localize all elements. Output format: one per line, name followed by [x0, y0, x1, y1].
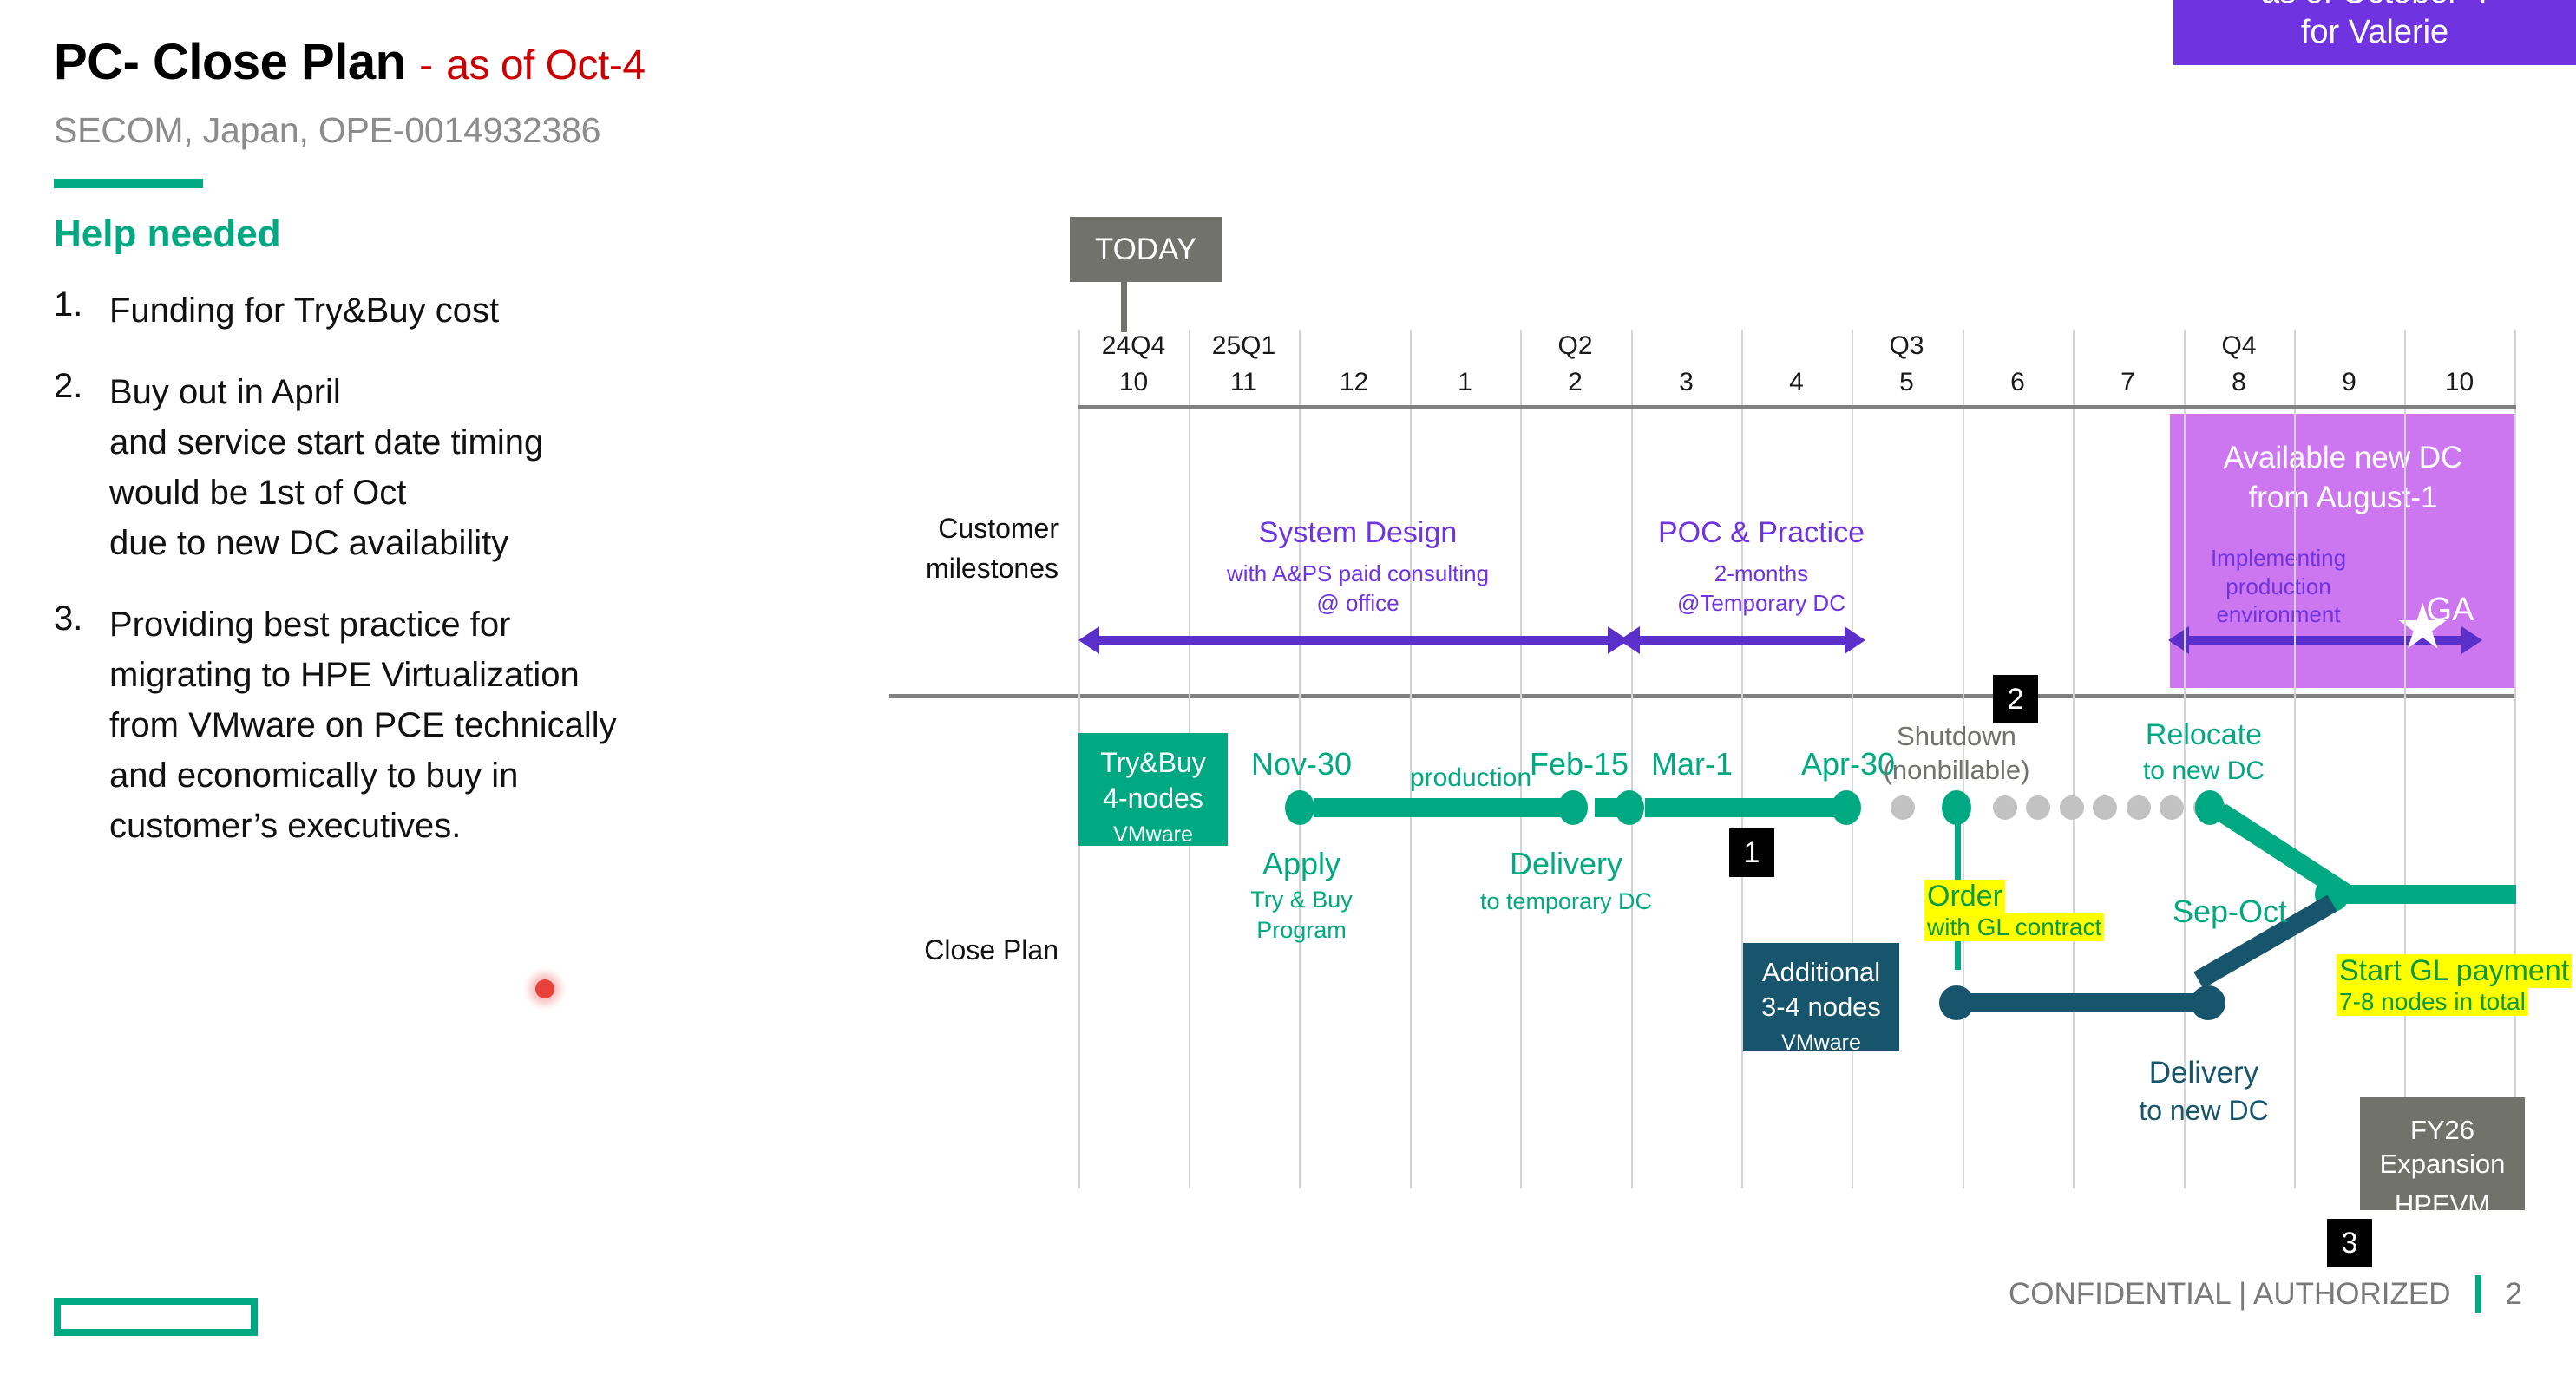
additional-line2: 3-4 nodes — [1743, 990, 1899, 1025]
month-label: 9 — [2294, 368, 2404, 397]
hpe-logo — [54, 1298, 258, 1336]
phase-title: System Design — [1171, 516, 1544, 550]
month-label: 12 — [1299, 368, 1409, 397]
trybuy-line3: VMware — [1078, 822, 1228, 848]
trybuy-line1: Try&Buy — [1078, 745, 1228, 781]
phase-system-design: System Design with A&PS paid consulting … — [1171, 516, 1544, 619]
row-label-customer-milestones: Customer milestones — [894, 508, 1059, 589]
valerie-note-line2: for Valerie — [2173, 12, 2576, 52]
footer: CONFIDENTIAL | AUTHORIZED 2 — [2009, 1275, 2522, 1313]
page-title: PC- Close Plan - as of Oct-4 — [54, 33, 921, 91]
grid-line — [2514, 330, 2516, 1188]
page-subtitle: SECOM, Japan, OPE-0014932386 — [54, 110, 921, 151]
additional-nodes-box: Additional 3-4 nodes VMware — [1743, 943, 1899, 1051]
poc-practice-arrow — [1638, 636, 1846, 645]
grid-line — [2404, 330, 2406, 1188]
fy26-expansion-box: FY26 Expansion HPEVM — [2360, 1097, 2525, 1210]
trybuy-box: Try&Buy 4-nodes VMware — [1078, 733, 1228, 846]
bullet-line: and economically to buy in — [109, 750, 617, 801]
row-label-line: Customer — [894, 508, 1059, 548]
list-item: 1. Funding for Try&Buy cost — [54, 285, 921, 336]
label-shutdown: Shutdown (nonbillable) — [1831, 720, 2082, 788]
label-shutdown-line: (nonbillable) — [1831, 754, 2082, 788]
additional-line3: VMware — [1743, 1031, 1899, 1056]
label-sep-oct: Sep-Oct — [2143, 894, 2317, 930]
month-label: 6 — [1963, 368, 2073, 397]
today-marker-stem — [1121, 282, 1127, 332]
fy26-line2: Expansion — [2360, 1147, 2525, 1181]
bullet-line: from VMware on PCE technically — [109, 700, 617, 750]
dark-bar-additional — [1959, 993, 2207, 1012]
dotted-segment-dot — [2127, 795, 2151, 820]
bullet-line: and service start date timing — [109, 417, 543, 468]
milestone-dot-nov30[interactable] — [1285, 790, 1314, 825]
page-number: 2 — [2506, 1277, 2522, 1312]
month-label: 11 — [1189, 368, 1299, 397]
row-label-close-plan: Close Plan — [894, 934, 1059, 966]
page-title-main: PC- Close Plan — [54, 34, 406, 90]
month-label: 10 — [1078, 368, 1189, 397]
label-relocate-line: Relocate — [2100, 716, 2308, 754]
mouse-cursor-pointer — [535, 979, 554, 998]
milestone-dot-order[interactable] — [1939, 985, 1974, 1020]
dotted-segment-dot — [1993, 795, 2017, 820]
bullet-text: Buy out in April and service start date … — [109, 367, 543, 568]
start-gl-line2: 7-8 nodes in total — [2337, 988, 2528, 1016]
dotted-segment-dot — [2026, 795, 2050, 820]
list-item: 2. Buy out in April and service start da… — [54, 367, 921, 568]
quarter-label: Q3 — [1852, 331, 1962, 361]
bullet-line: Providing best practice for — [109, 599, 617, 650]
milestone-dot-feb15[interactable] — [1558, 790, 1588, 825]
badge-2: 2 — [1993, 675, 2038, 723]
month-label: 4 — [1741, 368, 1852, 397]
phase-title: POC & Practice — [1609, 516, 1913, 550]
bullet-list: 1. Funding for Try&Buy cost 2. Buy out i… — [54, 285, 921, 851]
phase-sub-line: 2-months — [1609, 559, 1913, 588]
label-delivery-temp-sub: to temporary DC — [1440, 887, 1692, 917]
label-apply-sub-line: Try & Buy — [1215, 885, 1388, 915]
label-delivery-new-dc: Delivery to new DC — [2100, 1054, 2308, 1129]
valerie-note: as of October-4 for Valerie — [2173, 0, 2576, 65]
today-marker-flag: TODAY — [1070, 217, 1222, 282]
dotted-segment-dot — [2060, 795, 2084, 820]
accent-rule — [54, 179, 203, 188]
grid-baseline — [1078, 405, 2516, 409]
label-apply-sub: Try & Buy Program — [1215, 885, 1388, 946]
phase-poc-practice: POC & Practice 2-months @Temporary DC — [1609, 516, 1913, 619]
list-item: 3. Providing best practice for migrating… — [54, 599, 921, 851]
trybuy-line2: 4-nodes — [1078, 781, 1228, 816]
quarter-label: 24Q4 — [1078, 331, 1189, 361]
grid-line — [1410, 330, 1412, 1188]
order-line1: Order — [1924, 880, 2005, 913]
bullet-number: 1. — [54, 285, 109, 336]
label-nov30: Nov-30 — [1223, 746, 1380, 782]
month-label: 10 — [2404, 368, 2514, 397]
label-delivery-temp: Delivery — [1466, 846, 1666, 882]
label-relocate-line: to new DC — [2100, 754, 2308, 788]
page-title-asof: as of Oct-4 — [446, 43, 645, 88]
bullet-line: customer’s executives. — [109, 801, 617, 851]
label-delivery-new-dc-line: to new DC — [2100, 1093, 2308, 1129]
bullet-number: 2. — [54, 367, 109, 568]
additional-line1: Additional — [1743, 955, 1899, 990]
row-label-line: milestones — [894, 548, 1059, 588]
dotted-segment-dot — [1891, 795, 1915, 820]
month-label: 3 — [1631, 368, 1741, 397]
bullet-line: Buy out in April — [109, 367, 543, 417]
section-heading: Help needed — [54, 213, 921, 256]
quarter-label: Q4 — [2184, 331, 2294, 361]
milestone-dot-apr30[interactable] — [1832, 790, 1861, 825]
milestone-dot-mar1[interactable] — [1615, 790, 1644, 825]
footer-classification: CONFIDENTIAL | AUTHORIZED — [2009, 1277, 2451, 1312]
system-design-arrow — [1098, 636, 1609, 645]
valerie-note-line1: as of October-4 — [2173, 0, 2576, 12]
start-gl-line1: Start GL payment — [2337, 954, 2572, 988]
milestone-dot-delivery-new-dc[interactable] — [2191, 985, 2225, 1020]
order-line2: with GL contract — [1924, 913, 2104, 941]
footer-separator — [2475, 1275, 2481, 1313]
bullet-line: due to new DC availability — [109, 518, 543, 568]
order-highlight: Order with GL contract — [1924, 880, 2104, 941]
dotted-segment-dot — [2160, 795, 2184, 820]
left-content-column: PC- Close Plan - as of Oct-4 SECOM, Japa… — [54, 33, 921, 882]
phase-sub-line: @ office — [1171, 588, 1544, 618]
month-label: 7 — [2073, 368, 2183, 397]
label-delivery-new-dc-line: Delivery — [2100, 1054, 2308, 1093]
bullet-text: Funding for Try&Buy cost — [109, 285, 499, 336]
label-apply: Apply — [1215, 846, 1388, 882]
label-apply-sub-line: Program — [1215, 915, 1388, 946]
page-title-dash: - — [419, 43, 432, 88]
phase-sub-line: with A&PS paid consulting — [1171, 559, 1544, 588]
quarter-label: 25Q1 — [1189, 331, 1299, 361]
bullet-text: Providing best practice for migrating to… — [109, 599, 617, 851]
green-bar-production — [1314, 798, 1574, 817]
month-label: 8 — [2184, 368, 2294, 397]
milestone-dot-shutdown[interactable] — [1942, 790, 1971, 825]
bullet-line: would be 1st of Oct — [109, 468, 543, 518]
green-bar-gl — [2343, 885, 2516, 904]
label-mar1: Mar-1 — [1622, 746, 1761, 782]
badge-3: 3 — [2327, 1219, 2372, 1267]
month-label: 5 — [1852, 368, 1962, 397]
phase-sub-line: @Temporary DC — [1609, 588, 1913, 618]
bullet-number: 3. — [54, 599, 109, 851]
start-gl-highlight: Start GL payment 7-8 nodes in total — [2337, 954, 2572, 1016]
dotted-segment-dot — [2093, 795, 2117, 820]
today-label: TODAY — [1095, 232, 1196, 267]
quarter-label: Q2 — [1520, 331, 1630, 361]
bullet-line: Funding for Try&Buy cost — [109, 285, 499, 336]
green-bar-apr — [1645, 798, 1849, 817]
month-label: 1 — [1410, 368, 1520, 397]
fy26-line1: FY26 — [2360, 1113, 2525, 1147]
bullet-line: migrating to HPE Virtualization — [109, 650, 617, 700]
badge-1: 1 — [1729, 828, 1774, 877]
label-relocate: Relocate to new DC — [2100, 716, 2308, 788]
fy26-line3: HPEVM — [2360, 1189, 2525, 1221]
month-label: 2 — [1520, 368, 1630, 397]
label-shutdown-line: Shutdown — [1831, 720, 2082, 754]
